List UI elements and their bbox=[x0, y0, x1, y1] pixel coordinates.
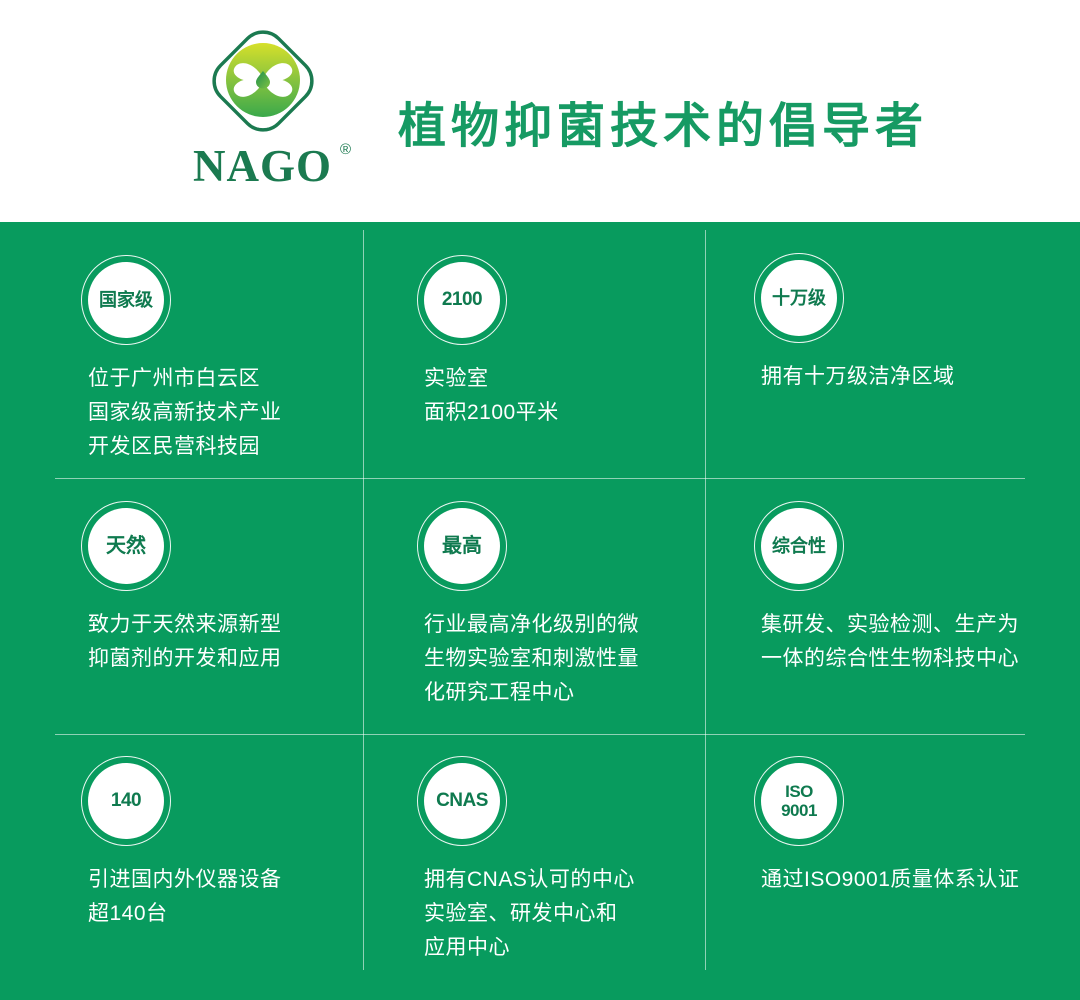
stat-description: 致力于天然来源新型 抑菌剂的开发和应用 bbox=[88, 608, 348, 676]
stat-cell: 140 引进国内外仪器设备 超140台 bbox=[88, 763, 348, 931]
stat-badge: 十万级 bbox=[761, 260, 837, 336]
stat-badge-label: ISO 9001 bbox=[781, 782, 817, 820]
stat-cell: 最高 行业最高净化级别的微 生物实验室和刺激性量 化研究工程中心 bbox=[424, 508, 694, 710]
stat-badge-label: 2100 bbox=[442, 290, 482, 310]
page-root: NAGO® 植物抑菌技术的倡导者 国家级 位于广州市白云区 国家级高新技术产业 … bbox=[0, 0, 1080, 1000]
stat-badge: 2100 bbox=[424, 262, 500, 338]
header: NAGO® 植物抑菌技术的倡导者 bbox=[0, 0, 1080, 222]
stat-badge-label: CNAS bbox=[436, 791, 488, 811]
stat-badge-label: 综合性 bbox=[772, 537, 826, 556]
stat-description: 拥有CNAS认可的中心 实验室、研发中心和 应用中心 bbox=[424, 863, 694, 965]
nago-wordmark: NAGO® bbox=[193, 144, 332, 189]
stats-panel: 国家级 位于广州市白云区 国家级高新技术产业 开发区民营科技园 2100 实验室… bbox=[0, 222, 1080, 1000]
stat-description: 位于广州市白云区 国家级高新技术产业 开发区民营科技园 bbox=[88, 362, 348, 464]
stat-description: 通过ISO9001质量体系认证 bbox=[761, 863, 1061, 897]
stat-badge-label: 天然 bbox=[106, 536, 146, 557]
stat-description: 集研发、实验检测、生产为 一体的综合性生物科技中心 bbox=[761, 608, 1061, 676]
registered-trademark-icon: ® bbox=[340, 142, 352, 157]
stat-badge: 综合性 bbox=[761, 508, 837, 584]
stat-cell: 十万级 拥有十万级洁净区域 bbox=[761, 260, 1051, 394]
stat-badge-label: 国家级 bbox=[99, 291, 153, 310]
stat-cell: CNAS 拥有CNAS认可的中心 实验室、研发中心和 应用中心 bbox=[424, 763, 694, 965]
stat-badge: 最高 bbox=[424, 508, 500, 584]
wordmark-text: NAGO bbox=[193, 141, 332, 191]
stat-badge: ISO 9001 bbox=[761, 763, 837, 839]
stat-badge: 国家级 bbox=[88, 262, 164, 338]
stat-badge: 天然 bbox=[88, 508, 164, 584]
stat-cell: 天然 致力于天然来源新型 抑菌剂的开发和应用 bbox=[88, 508, 348, 676]
stat-cell: 综合性 集研发、实验检测、生产为 一体的综合性生物科技中心 bbox=[761, 508, 1061, 676]
stat-badge-label: 十万级 bbox=[772, 289, 826, 308]
stat-description: 拥有十万级洁净区域 bbox=[761, 360, 1051, 394]
brand-logo: NAGO® bbox=[185, 22, 340, 197]
stat-cell: ISO 9001 通过ISO9001质量体系认证 bbox=[761, 763, 1061, 897]
stat-badge: CNAS bbox=[424, 763, 500, 839]
stat-description: 引进国内外仪器设备 超140台 bbox=[88, 863, 348, 931]
stat-badge-label: 140 bbox=[111, 791, 141, 811]
stat-badge-label: 最高 bbox=[442, 536, 482, 557]
page-title: 植物抑菌技术的倡导者 bbox=[398, 86, 928, 156]
stat-description: 行业最高净化级别的微 生物实验室和刺激性量 化研究工程中心 bbox=[424, 608, 694, 710]
divider-horizontal-1 bbox=[55, 478, 1025, 479]
stat-cell: 2100 实验室 面积2100平米 bbox=[424, 262, 684, 430]
stat-badge: 140 bbox=[88, 763, 164, 839]
stat-cell: 国家级 位于广州市白云区 国家级高新技术产业 开发区民营科技园 bbox=[88, 262, 348, 464]
divider-vertical-2 bbox=[705, 230, 706, 970]
nago-flower-logo-icon bbox=[204, 22, 322, 140]
stat-description: 实验室 面积2100平米 bbox=[424, 362, 684, 430]
divider-vertical-1 bbox=[363, 230, 364, 970]
divider-horizontal-2 bbox=[55, 734, 1025, 735]
